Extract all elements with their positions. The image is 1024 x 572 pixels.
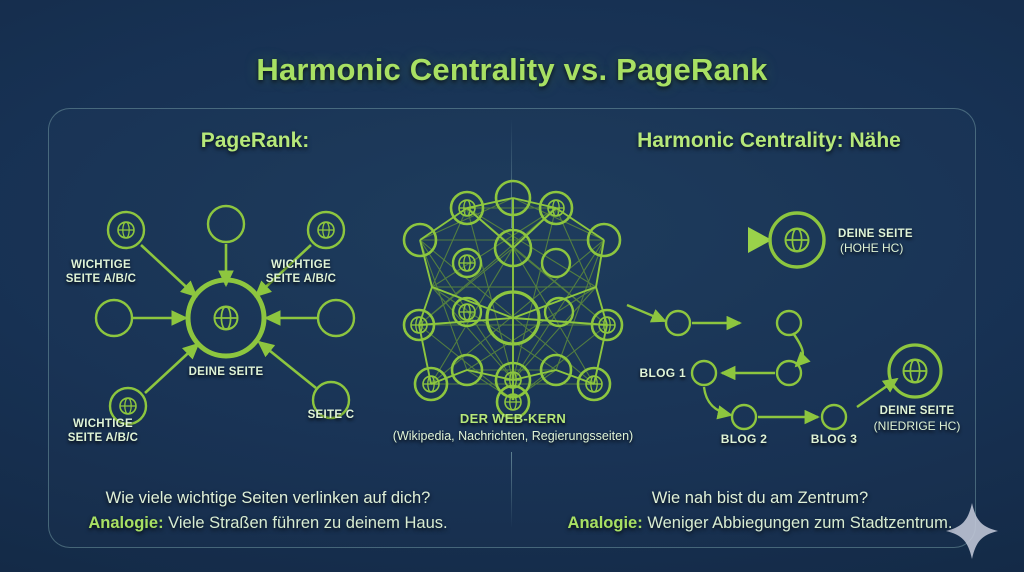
label-web-core-subtitle: (Wikipedia, Nachrichten, Regierungsseite… — [373, 429, 653, 443]
footer-analogy-text-left: Viele Straßen führen zu deinem Haus. — [168, 514, 447, 532]
node-hop-1 — [666, 311, 690, 335]
label-important-c: WICHTIGE SEITE A/B/C — [38, 417, 168, 445]
node-blog-1 — [692, 361, 716, 385]
node-blog-3 — [822, 405, 846, 429]
label-high-hc-title: DEINE SEITE — [838, 227, 948, 241]
footer-analogy-label-left: Analogie: — [88, 514, 163, 532]
label-blog-2: BLOG 2 — [714, 432, 774, 446]
node-your-site-center[interactable] — [188, 280, 264, 356]
harmonic-hop-nodes[interactable] — [666, 311, 846, 429]
node-hop-2 — [777, 311, 801, 335]
node-your-site-low-hc[interactable] — [889, 345, 941, 397]
pagerank-diagram — [96, 206, 354, 424]
label-low-hc-sub: (NIEDRIGE HC) — [853, 419, 981, 433]
node-your-site-high-hc[interactable] — [770, 213, 824, 267]
web-core-diagram — [404, 181, 622, 418]
node-plain-left[interactable] — [96, 300, 132, 336]
node-plain-top[interactable] — [208, 206, 244, 242]
label-high-hc-sub: (HOHE HC) — [840, 241, 950, 255]
node-hop-3 — [777, 361, 801, 385]
edge-blog1-to-blog2 — [704, 387, 731, 415]
footer-analogy-left: Analogie: Viele Straßen führen zu deinem… — [24, 511, 512, 536]
label-seite-c: SEITE C — [281, 408, 381, 422]
footer-harmonic: Wie nah bist du am Zentrum? Analogie: We… — [514, 486, 1006, 536]
footer-question-left: Wie viele wichtige Seiten verlinken auf … — [24, 486, 512, 511]
slide-canvas: Harmonic Centrality vs. PageRank PageRan… — [0, 0, 1024, 572]
edge-core-to-hop1 — [627, 305, 665, 321]
label-blog-3: BLOG 3 — [804, 432, 864, 446]
footer-question-right: Wie nah bist du am Zentrum? — [514, 486, 1006, 511]
label-low-hc-title: DEINE SEITE — [858, 404, 976, 418]
footer-pagerank: Wie viele wichtige Seiten verlinken auf … — [24, 486, 512, 536]
node-plain-right[interactable] — [318, 300, 354, 336]
footer-analogy-right: Analogie: Weniger Abbiegungen zum Stadtz… — [514, 511, 1006, 536]
label-your-site-center: DEINE SEITE — [166, 365, 286, 379]
arrow-short-path — [625, 227, 772, 253]
label-web-core-title: DER WEB-KERN — [413, 412, 613, 426]
node-important-b[interactable] — [308, 212, 344, 248]
footer-analogy-label-right: Analogie: — [568, 514, 643, 532]
node-important-a[interactable] — [108, 212, 144, 248]
label-important-b: WICHTIGE SEITE A/B/C — [236, 258, 366, 286]
label-important-a: WICHTIGE SEITE A/B/C — [36, 258, 166, 286]
footer-analogy-text-right: Weniger Abbiegungen zum Stadtzentrum. — [647, 514, 952, 532]
label-blog-1: BLOG 1 — [628, 366, 686, 380]
node-blog-2 — [732, 405, 756, 429]
